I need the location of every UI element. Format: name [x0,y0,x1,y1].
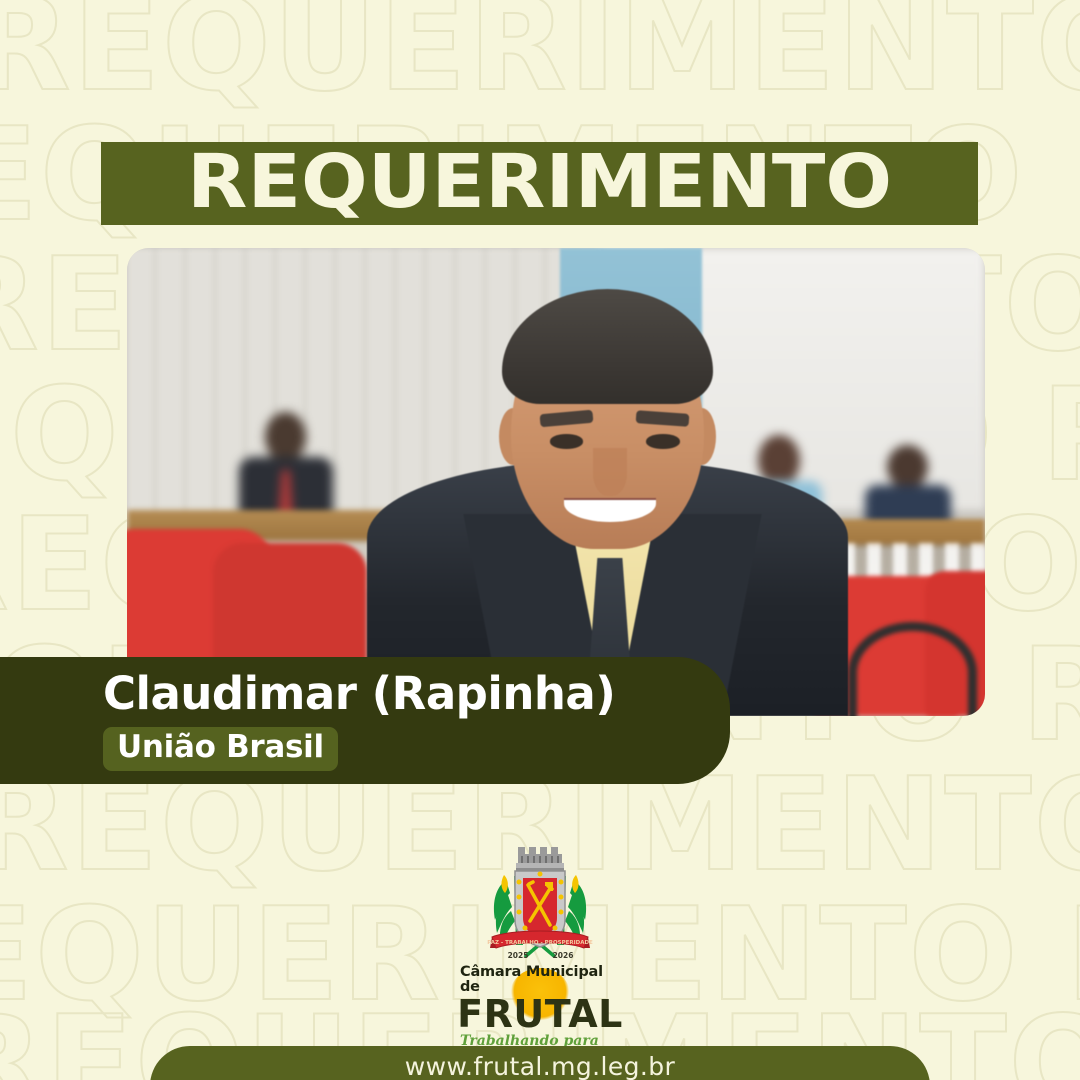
photo-scene [127,248,985,716]
eye-right [646,434,680,448]
institution-logo: PAZ - TRABALHO - PROSPERIDADE 2025 2026 … [440,845,640,1027]
crest-motto: PAZ - TRABALHO - PROSPERIDADE [487,940,593,946]
logo-line-camara: Câmara Municipal de [460,965,620,994]
eye-left [550,434,584,448]
councillor-name: Claudimar (Rapinha) [103,671,730,716]
poster-canvas: REQUERIMENTO REQUERIMENTO REQUERIMENTO R… [0,0,1080,1080]
councillor-photo [127,248,985,716]
councillor-name-card: Claudimar (Rapinha) União Brasil [0,657,730,784]
hair [502,289,713,403]
title-banner: REQUERIMENTO [101,142,978,225]
chair-armrest [848,622,978,716]
website-url[interactable]: www.frutal.mg.leg.br [405,1054,675,1079]
party-badge: União Brasil [103,727,338,771]
logo-line-frutal: FRUTAL [457,995,623,1033]
logo-wordmark: Câmara Municipal de FRUTAL Trabalhando p… [460,965,620,1027]
watermark-row: REQUERIMENTO REQUERIMENTO REQUERIMENTO [0,0,1080,110]
crest-year-right: 2026 [553,951,574,960]
crest-year-left: 2025 [508,951,529,960]
coat-of-arms-icon: PAZ - TRABALHO - PROSPERIDADE 2025 2026 [475,845,605,963]
page-title: REQUERIMENTO [187,145,892,223]
nose [593,448,627,496]
footer-bar: www.frutal.mg.leg.br [150,1046,930,1080]
councillor-portrait [367,276,847,716]
